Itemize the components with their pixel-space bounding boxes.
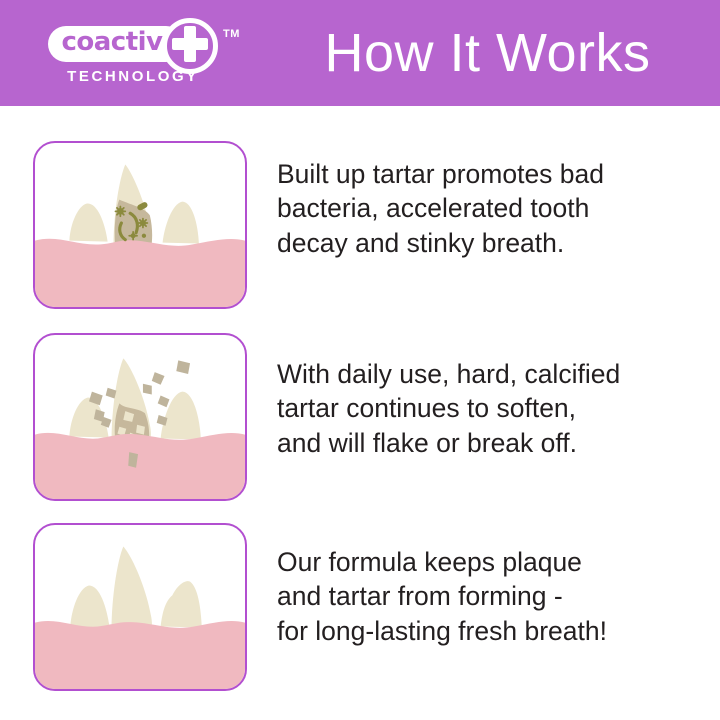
caption-line: With daily use, hard, calcified [277,357,677,391]
caption-line: decay and stinky breath. [277,226,677,260]
illustration-panel-clean-teeth [33,523,247,691]
caption-line: tartar continues to soften, [277,391,677,425]
step-row-2: With daily use, hard, calcified tartar c… [0,333,720,501]
caption-line: and will flake or break off. [277,426,677,460]
caption-line: for long-lasting fresh breath! [277,614,677,648]
logo-subtitle: TECHNOLOGY [58,68,208,85]
coactiv-technology-logo: coactiv TM TECHNOLOGY [44,24,240,86]
caption-line: and tartar from forming - [277,579,677,613]
caption-line: Built up tartar promotes bad [277,157,677,191]
logo-wordmark: coactiv [44,24,180,60]
step-row-3: Our formula keeps plaque and tartar from… [0,523,720,691]
step-row-1: Built up tartar promotes bad bacteria, a… [0,141,720,309]
step-caption-3: Our formula keeps plaque and tartar from… [277,545,677,648]
page-title: How It Works [255,0,720,106]
caption-line: Our formula keeps plaque [277,545,677,579]
illustration-panel-tooth-with-tartar [33,141,247,309]
caption-line: bacteria, accelerated tooth [277,191,677,225]
trademark-symbol: TM [223,28,240,40]
page-header: coactiv TM TECHNOLOGY How It Works [0,0,720,106]
tartar-flaking-off-tooth-icon [35,335,245,499]
tooth-with-tartar-and-bacteria-icon [35,143,245,307]
clean-healthy-teeth-icon [35,525,245,689]
step-caption-2: With daily use, hard, calcified tartar c… [277,357,677,460]
step-caption-1: Built up tartar promotes bad bacteria, a… [277,157,677,260]
illustration-panel-tartar-flaking [33,333,247,501]
plus-icon-vertical-bar [184,26,196,62]
